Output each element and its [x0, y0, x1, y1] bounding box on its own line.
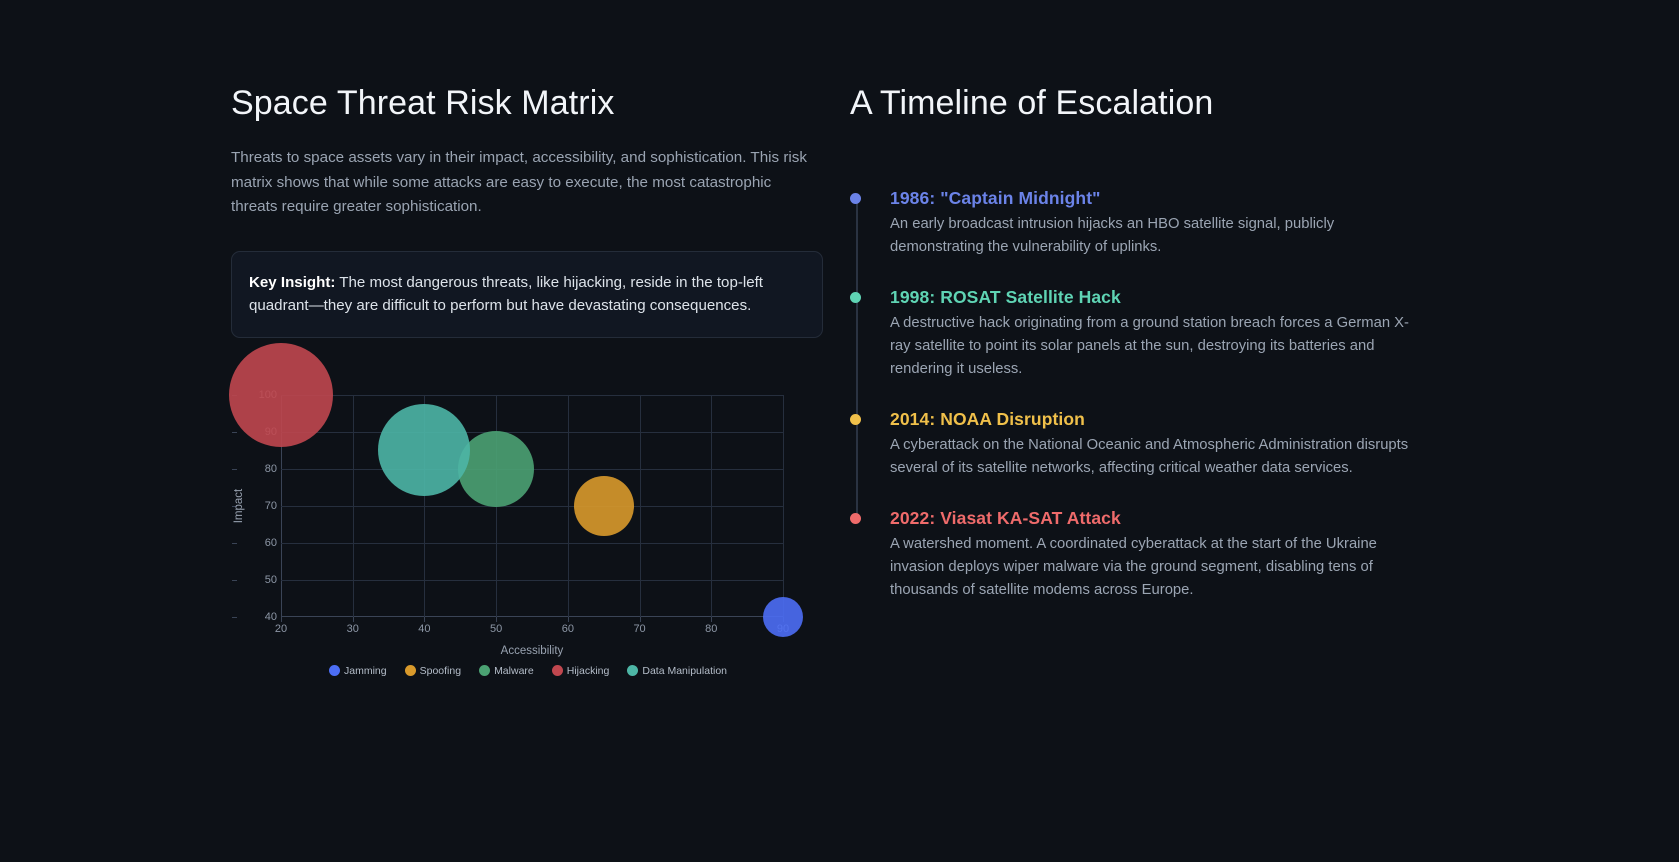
y-tick-mark	[232, 469, 237, 470]
timeline-item[interactable]: 1998: ROSAT Satellite HackA destructive …	[890, 285, 1450, 381]
y-tick-mark	[232, 580, 237, 581]
x-tick-mark	[424, 617, 425, 622]
timeline-dot-icon	[850, 292, 861, 303]
timeline-item-description: A cyberattack on the National Oceanic an…	[890, 434, 1410, 480]
x-tick-label: 40	[418, 623, 430, 635]
chart-bubble-data-manipulation[interactable]	[378, 404, 470, 496]
y-tick-mark	[232, 432, 237, 433]
legend-label: Malware	[494, 665, 534, 677]
timeline-item-description: An early broadcast intrusion hijacks an …	[890, 213, 1410, 259]
x-tick-mark	[496, 617, 497, 622]
gridline-horizontal	[281, 432, 783, 433]
timeline-title: A Timeline of Escalation	[850, 84, 1450, 123]
legend-label: Spoofing	[420, 665, 461, 677]
chart-plot-area: 2030405060708090405060708090100 Impact A…	[281, 395, 783, 617]
timeline-item-heading: 2022: Viasat KA-SAT Attack	[890, 506, 1450, 530]
legend-label: Data Manipulation	[642, 665, 727, 677]
timeline-item[interactable]: 2014: NOAA DisruptionA cyberattack on th…	[890, 407, 1450, 480]
timeline-item-description: A watershed moment. A coordinated cybera…	[890, 533, 1410, 602]
timeline-panel: A Timeline of Escalation 1986: "Captain …	[850, 84, 1450, 602]
gridline-horizontal	[281, 543, 783, 544]
page-root: Space Threat Risk Matrix Threats to spac…	[0, 0, 1679, 862]
timeline-item-heading: 1986: "Captain Midnight"	[890, 186, 1450, 210]
x-tick-mark	[353, 617, 354, 622]
legend-item-data-manipulation[interactable]: Data Manipulation	[627, 665, 727, 677]
timeline-item-heading: 1998: ROSAT Satellite Hack	[890, 285, 1450, 309]
legend-item-hijacking[interactable]: Hijacking	[552, 665, 610, 677]
timeline-item-heading: 2014: NOAA Disruption	[890, 407, 1450, 431]
legend-label: Jamming	[344, 665, 387, 677]
timeline-dot-icon	[850, 513, 861, 524]
timeline-item[interactable]: 1986: "Captain Midnight"An early broadca…	[890, 186, 1450, 259]
x-tick-mark	[281, 617, 282, 622]
y-tick-label: 50	[237, 574, 277, 586]
legend-item-jamming[interactable]: Jamming	[329, 665, 387, 677]
gridline-vertical	[783, 395, 784, 617]
chart-bubble-jamming[interactable]	[763, 597, 803, 637]
gridline-horizontal	[281, 506, 783, 507]
legend-item-malware[interactable]: Malware	[479, 665, 534, 677]
y-tick-mark	[232, 543, 237, 544]
chart-bubble-hijacking[interactable]	[229, 343, 333, 447]
chart-legend: JammingSpoofingMalwareHijackingData Mani…	[231, 665, 825, 677]
legend-swatch-icon	[405, 665, 416, 676]
key-insight-label: Key Insight:	[249, 274, 335, 291]
legend-label: Hijacking	[567, 665, 610, 677]
key-insight-box: Key Insight: The most dangerous threats,…	[231, 251, 823, 338]
panel-description: Threats to space assets vary in their im…	[231, 146, 816, 220]
timeline-list: 1986: "Captain Midnight"An early broadca…	[850, 186, 1450, 602]
legend-swatch-icon	[329, 665, 340, 676]
x-axis-label: Accessibility	[281, 645, 783, 657]
x-axis-line	[281, 616, 783, 617]
y-tick-mark	[232, 617, 237, 618]
x-tick-label: 80	[705, 623, 717, 635]
x-tick-mark	[568, 617, 569, 622]
y-tick-label: 80	[237, 463, 277, 475]
risk-matrix-chart: 2030405060708090405060708090100 Impact A…	[231, 367, 825, 697]
x-tick-label: 70	[633, 623, 645, 635]
gridline-horizontal	[281, 395, 783, 396]
legend-swatch-icon	[552, 665, 563, 676]
gridline-horizontal	[281, 580, 783, 581]
key-insight-text: Key Insight: The most dangerous threats,…	[249, 271, 805, 318]
timeline-item-description: A destructive hack originating from a gr…	[890, 312, 1410, 381]
legend-swatch-icon	[479, 665, 490, 676]
risk-matrix-panel: Space Threat Risk Matrix Threats to spac…	[231, 84, 825, 697]
timeline-dot-icon	[850, 193, 861, 204]
chart-bubble-spoofing[interactable]	[574, 476, 634, 536]
x-tick-label: 20	[275, 623, 287, 635]
legend-swatch-icon	[627, 665, 638, 676]
timeline-dot-icon	[850, 414, 861, 425]
x-tick-mark	[711, 617, 712, 622]
timeline-rail	[856, 198, 858, 518]
x-tick-label: 60	[562, 623, 574, 635]
x-tick-label: 50	[490, 623, 502, 635]
page-title: Space Threat Risk Matrix	[231, 84, 825, 123]
y-tick-label: 40	[237, 611, 277, 623]
y-tick-label: 60	[237, 537, 277, 549]
y-axis-label: Impact	[233, 488, 245, 523]
x-tick-label: 30	[347, 623, 359, 635]
legend-item-spoofing[interactable]: Spoofing	[405, 665, 461, 677]
x-tick-mark	[640, 617, 641, 622]
timeline-item[interactable]: 2022: Viasat KA-SAT AttackA watershed mo…	[890, 506, 1450, 602]
